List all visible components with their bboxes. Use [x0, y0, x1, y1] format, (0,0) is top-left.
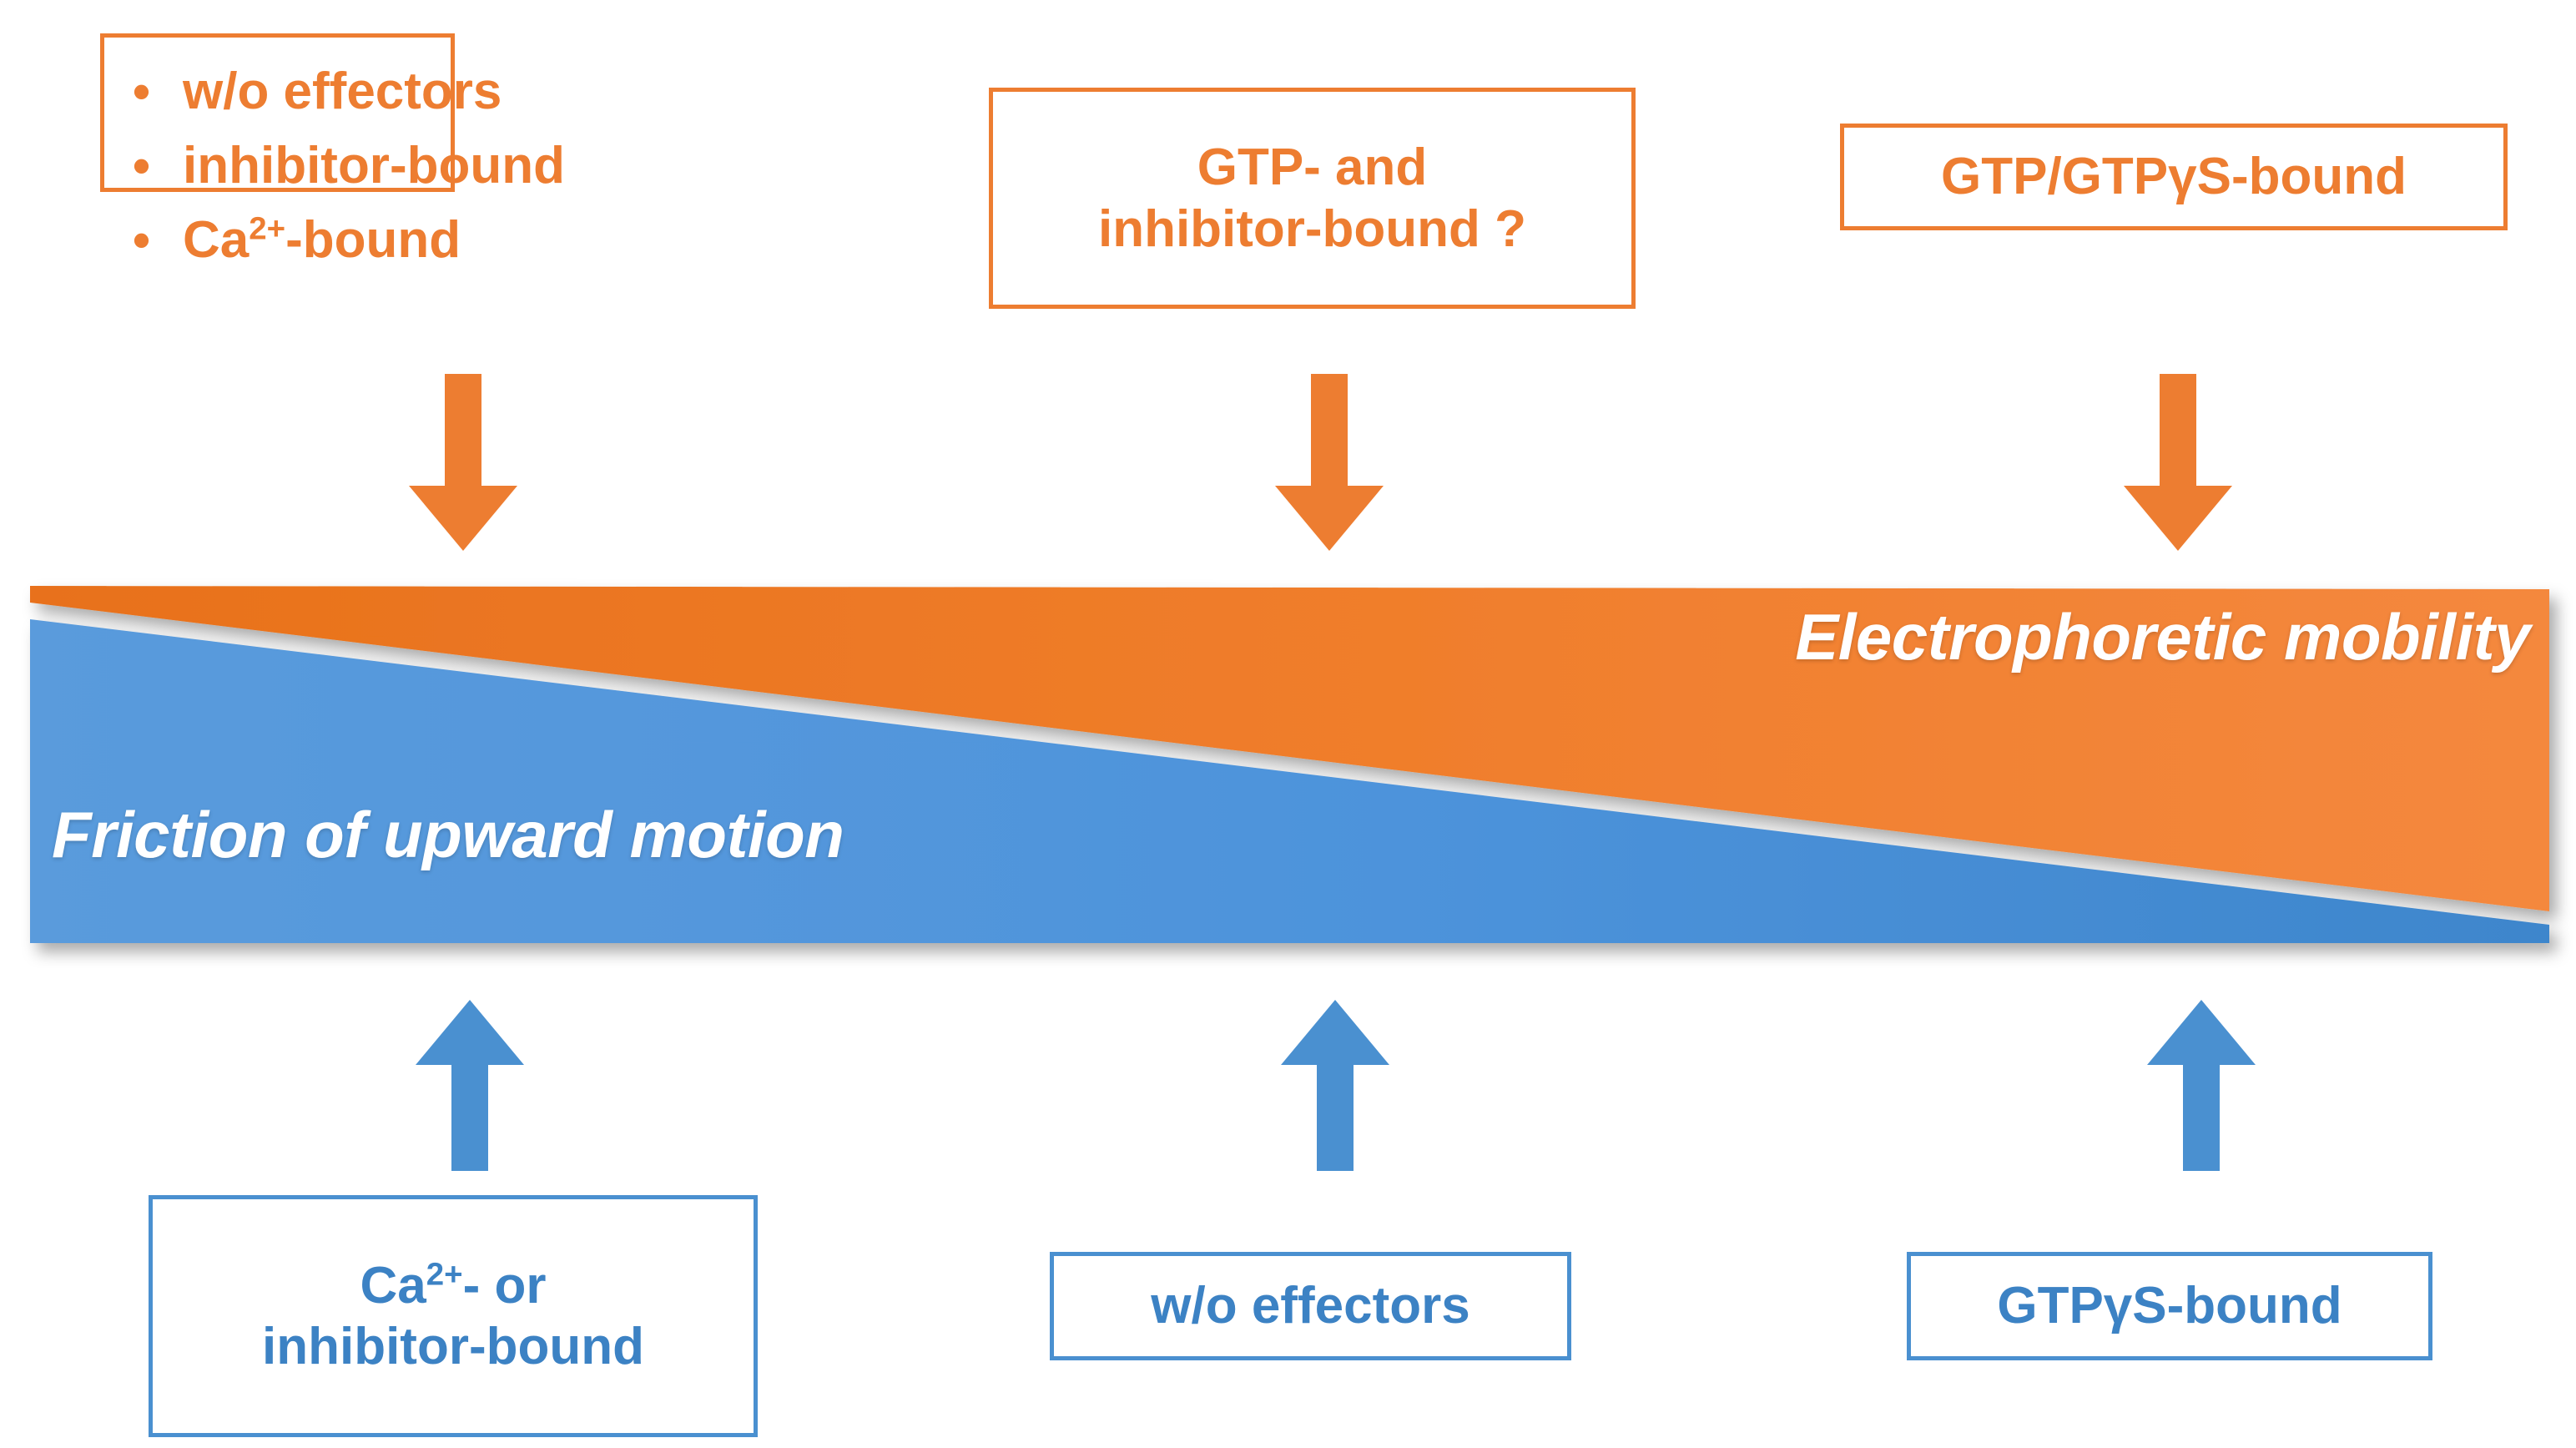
bullet-item-3-tail: -bound: [285, 211, 461, 269]
bullet-item-3-label: Ca2+-bound: [183, 213, 461, 267]
down-arrow-right: [2124, 374, 2232, 551]
callout-orange-gtp-gtpys-label: GTP/GTPγS-bound: [1941, 146, 2407, 207]
callout-blue-gtpys-label: GTPγS-bound: [1997, 1275, 2342, 1336]
callout-blue-ca-inhibitor-line2: inhibitor-bound: [262, 1316, 644, 1377]
callout-orange-gtp-gtpys: GTP/GTPγS-bound: [1840, 124, 2508, 230]
callout-orange-gtp-inhibitor-line2: inhibitor-bound ?: [1098, 199, 1526, 260]
callout-blue-ca-tail: - or: [463, 1257, 547, 1314]
callout-orange-bullet-list: • w/o effectors • inhibitor-bound • Ca2+…: [100, 33, 455, 192]
callout-blue-ca-inhibitor: Ca2+- or inhibitor-bound: [149, 1195, 758, 1437]
wedge-label-electrophoretic-mobility: Electrophoretic mobility: [1795, 599, 2530, 675]
bullet-dot-icon: •: [133, 141, 183, 191]
bullet-item-2: • inhibitor-bound: [133, 139, 426, 193]
up-arrow-middle: [1281, 1000, 1389, 1171]
bullet-item-3-base: Ca: [183, 211, 249, 269]
diagram-canvas: • w/o effectors • inhibitor-bound • Ca2+…: [0, 0, 2576, 1448]
bullet-item-3: • Ca2+-bound: [133, 213, 426, 267]
bullet-item-1: • w/o effectors: [133, 64, 426, 119]
callout-blue-ca-inhibitor-line1: Ca2+- or: [360, 1255, 547, 1316]
callout-blue-gtpys: GTPγS-bound: [1907, 1252, 2432, 1360]
bullet-item-1-label: w/o effectors: [183, 64, 502, 119]
callout-blue-ca-superscript: 2+: [426, 1256, 463, 1292]
up-arrow-left: [416, 1000, 524, 1171]
wedge-label-friction-of-upward-motion: Friction of upward motion: [52, 797, 844, 873]
down-arrow-left: [409, 374, 517, 551]
bullet-item-2-label: inhibitor-bound: [183, 139, 565, 193]
bullet-dot-icon: •: [133, 215, 183, 265]
callout-blue-ca-base: Ca: [360, 1257, 426, 1314]
callout-blue-wo-effectors: w/o effectors: [1050, 1252, 1571, 1360]
bullet-dot-icon: •: [133, 67, 183, 117]
up-arrow-right: [2147, 1000, 2256, 1171]
down-arrow-middle: [1275, 374, 1384, 551]
callout-orange-gtp-inhibitor-line1: GTP- and: [1197, 137, 1428, 198]
bullet-item-3-superscript: 2+: [249, 211, 285, 247]
callout-orange-gtp-inhibitor: GTP- and inhibitor-bound ?: [989, 88, 1636, 309]
callout-blue-wo-effectors-label: w/o effectors: [1151, 1275, 1469, 1336]
